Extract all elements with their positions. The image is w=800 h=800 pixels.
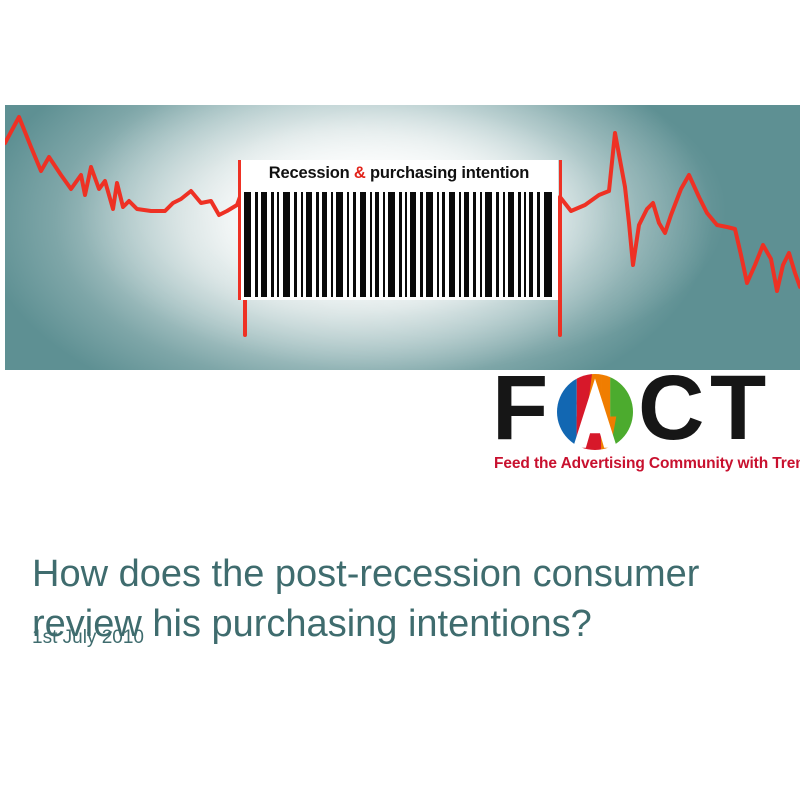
logo-letter-t: T xyxy=(710,368,763,448)
barcode-title-ampersand: & xyxy=(354,164,366,182)
logo-letter-a-colorwheel-icon xyxy=(552,374,638,450)
barcode-right-red-edge xyxy=(559,160,562,300)
barcode-title-text: Recession & purchasing intention xyxy=(240,164,558,183)
barcode-bars xyxy=(244,192,554,297)
fact-wordmark: F C T xyxy=(492,372,792,452)
barcode-left-red-edge xyxy=(238,160,241,300)
barcode-title-after: purchasing intention xyxy=(366,164,530,182)
logo-letter-f: F xyxy=(492,368,545,448)
logo-tagline: Feed the Advertising Community with Tren… xyxy=(494,455,800,473)
fact-logo: F C T xyxy=(492,372,792,480)
barcode-graphic: Recession & purchasing intention xyxy=(240,160,558,300)
barcode-title-before: Recession xyxy=(269,164,354,182)
header-banner-image: Recession & purchasing intention xyxy=(5,105,800,370)
logo-letter-c: C xyxy=(638,368,701,448)
slide-date: 1st July 2010 xyxy=(32,627,144,649)
